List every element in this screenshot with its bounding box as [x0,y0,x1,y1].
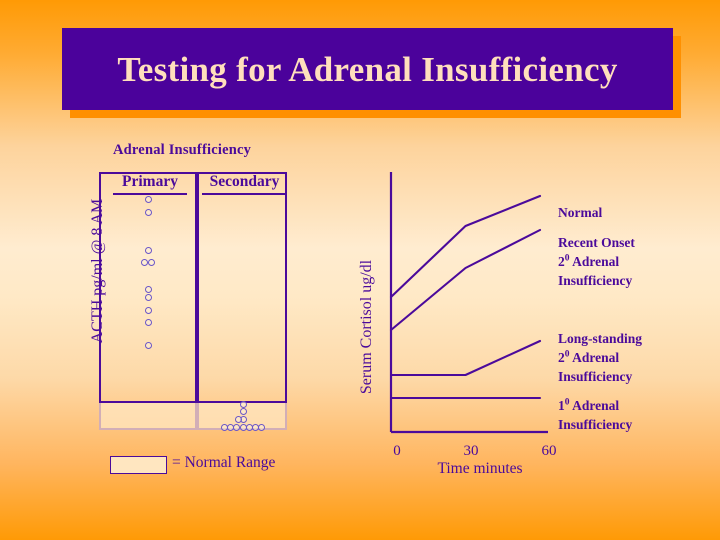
annotation-long-standing-line3: Insufficiency [558,367,642,386]
curve-normal [391,196,540,297]
annotation-primary-ai-word: Adrenal [572,398,619,413]
x-tick-0: 0 [382,443,412,460]
annotation-primary-ai: 10 Adrenal Insufficiency [558,396,632,434]
annotation-recent-onset: Recent Onset 20 Adrenal Insufficiency [558,233,635,290]
degree-superscript-3: 0 [565,398,570,408]
annotation-normal: Normal [558,203,602,222]
scatter-dot [240,401,247,408]
scatter-dot [141,259,148,266]
scatter-dot [145,307,152,314]
column-header-secondary: Secondary [202,173,287,195]
annotation-recent-onset-word: Adrenal [572,254,619,269]
annotation-long-standing: Long-standing 20 Adrenal Insufficiency [558,329,642,386]
right-chart-x-axis-label: Time minutes [400,460,560,478]
scatter-dot [240,408,247,415]
curve-recent-onset [391,230,540,330]
scatter-dot [145,286,152,293]
page-title: Testing for Adrenal Insufficiency [117,52,617,87]
annotation-primary-ai-line2: Insufficiency [558,415,632,434]
x-tick-60: 60 [534,443,564,460]
scatter-dot [145,209,152,216]
annotation-recent-onset-line2: 20 Adrenal [558,252,635,271]
scatter-dot [145,247,152,254]
scatter-dot [145,196,152,203]
scatter-dot [235,416,242,423]
scatter-dot [145,294,152,301]
scatter-dot [258,424,265,431]
column-header-primary: Primary [113,173,187,195]
degree-superscript: 0 [565,254,570,264]
right-chart-y-axis-label: Serum Cortisol ug/dl [358,227,376,427]
cortisol-response-plot [380,165,680,445]
title-banner: Testing for Adrenal Insufficiency [62,28,673,110]
annotation-long-standing-word: Adrenal [572,350,619,365]
annotation-primary-ai-line1: 10 Adrenal [558,396,632,415]
x-tick-30: 30 [456,443,486,460]
annotation-long-standing-line2: 20 Adrenal [558,348,642,367]
annotation-recent-onset-line3: Insufficiency [558,271,635,290]
superscript-2b: 2 [558,350,565,365]
legend-swatch-normal-range [110,456,167,474]
left-chart-heading: Adrenal Insufficiency [113,142,353,159]
curve-long-standing [391,341,540,375]
legend-label-normal-range: = Normal Range [172,454,275,472]
scatter-dot [145,342,152,349]
annotation-recent-onset-line1: Recent Onset [558,233,635,252]
degree-superscript-2: 0 [565,350,570,360]
superscript-2: 2 [558,254,565,269]
left-chart-column-divider [195,172,199,430]
annotation-normal-line1: Normal [558,203,602,222]
left-chart-frame [99,172,287,430]
slide-canvas: Testing for Adrenal Insufficiency Adrena… [0,0,720,540]
scatter-dot [148,259,155,266]
superscript-1: 1 [558,398,565,413]
annotation-long-standing-line1: Long-standing [558,329,642,348]
scatter-dot [145,319,152,326]
